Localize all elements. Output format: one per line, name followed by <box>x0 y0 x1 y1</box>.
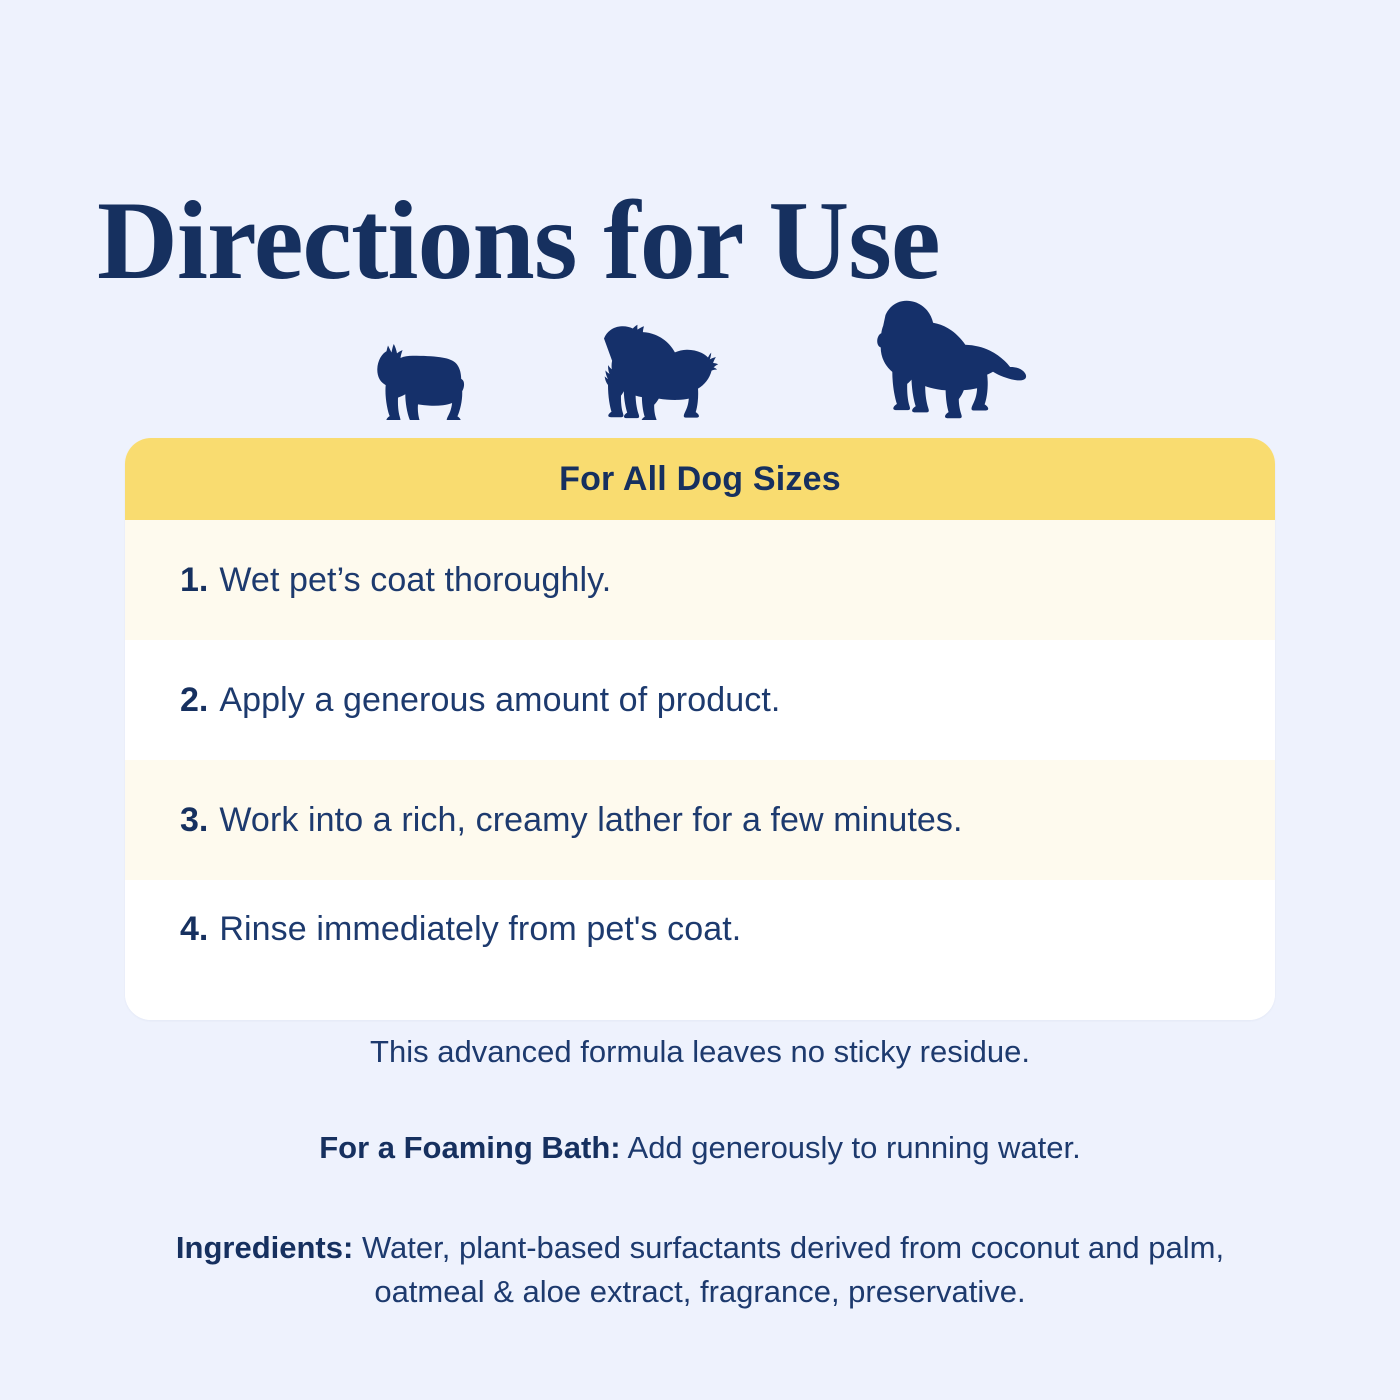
foaming-bath-text: Add generously to running water. <box>621 1130 1081 1165</box>
dog-size-illustrations <box>0 288 1400 420</box>
card-header-title: For All Dog Sizes <box>559 460 841 499</box>
step-number: 2. <box>180 681 208 720</box>
directions-card: For All Dog Sizes 1. Wet pet’s coat thor… <box>125 438 1275 1020</box>
ingredients-label: Ingredients: <box>176 1230 353 1265</box>
step-text: Work into a rich, creamy lather for a fe… <box>219 801 962 840</box>
small-dog-silhouette <box>371 344 466 420</box>
foaming-bath-note: For a Foaming Bath: Add generously to ru… <box>0 1126 1400 1170</box>
step-row: 1. Wet pet’s coat thoroughly. <box>125 520 1275 640</box>
foaming-bath-label: For a Foaming Bath: <box>319 1130 620 1165</box>
residue-note: This advanced formula leaves no sticky r… <box>0 1030 1400 1074</box>
step-text: Rinse immediately from pet's coat. <box>219 910 741 949</box>
footer-notes: This advanced formula leaves no sticky r… <box>0 1030 1400 1314</box>
page-title: Directions for Use <box>97 183 940 301</box>
directions-for-use-page: Directions for Use For All Dog Sizes 1. … <box>0 0 1400 1400</box>
ingredients-text: Water, plant-based surfactants derived f… <box>353 1230 1224 1309</box>
large-dog-silhouette <box>854 300 1030 420</box>
step-row: 2. Apply a generous amount of product. <box>125 640 1275 760</box>
step-row: 4. Rinse immediately from pet's coat. <box>125 880 1275 1020</box>
step-number: 1. <box>180 561 208 600</box>
step-text: Wet pet’s coat thoroughly. <box>219 561 611 600</box>
step-number: 4. <box>180 910 208 949</box>
step-number: 3. <box>180 801 208 840</box>
ingredients-note: Ingredients: Water, plant-based surfacta… <box>0 1226 1400 1314</box>
step-row: 3. Work into a rich, creamy lather for a… <box>125 760 1275 880</box>
card-header: For All Dog Sizes <box>125 438 1275 520</box>
medium-dog-silhouette <box>590 320 730 420</box>
step-text: Apply a generous amount of product. <box>219 681 780 720</box>
